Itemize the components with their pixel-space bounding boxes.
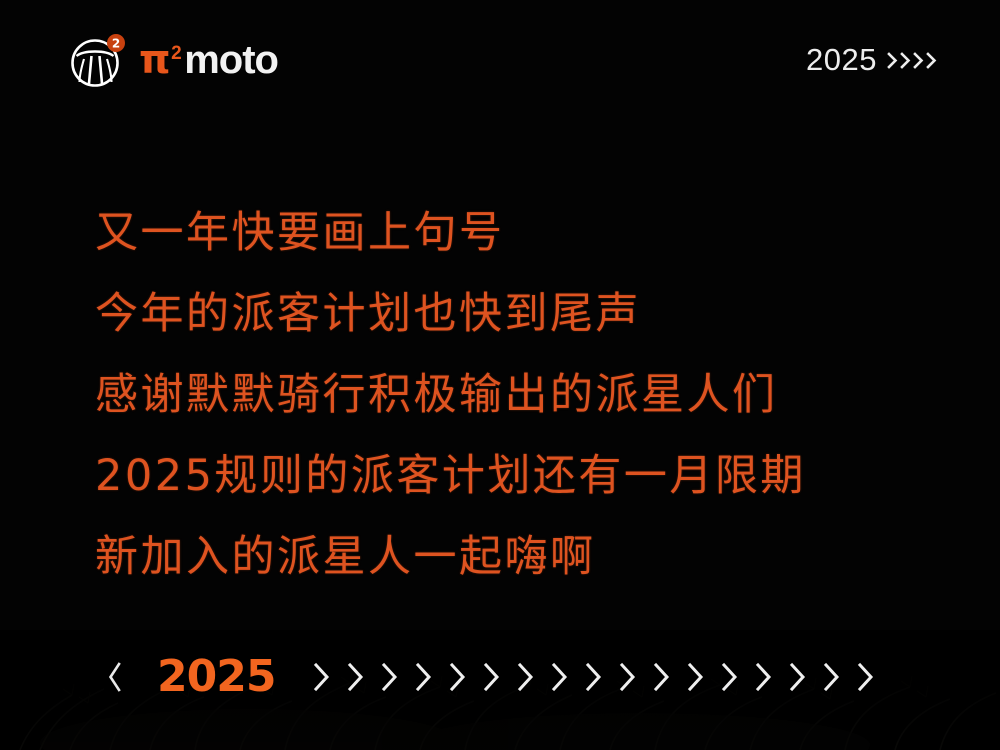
chevron-right-icon — [713, 660, 747, 694]
brand-pi-glyph: π — [139, 40, 170, 80]
chevron-right-icon — [899, 51, 912, 70]
chevron-right-icon — [679, 660, 713, 694]
chevron-right-icon — [925, 51, 938, 70]
chevron-right-icon — [407, 660, 441, 694]
copy-line-2: 今年的派客计划也快到尾声 — [95, 293, 925, 336]
pi-moto-circle-logo-icon: 2 — [70, 32, 126, 88]
footer-chevron-group — [305, 660, 883, 694]
chevron-right-icon — [441, 660, 475, 694]
chevron-right-icon — [781, 660, 815, 694]
chevron-right-icon — [305, 660, 339, 694]
header-chevron-group — [886, 51, 938, 70]
copy-line-1: 又一年快要画上句号 — [95, 212, 925, 255]
header-year-label: 2025 — [806, 42, 877, 78]
brand-wordmark: π2moto — [139, 40, 278, 80]
chevron-right-icon — [475, 660, 509, 694]
copy-line-3: 感谢默默骑行积极输出的派星人们 — [95, 374, 925, 417]
chevron-right-icon — [509, 660, 543, 694]
main-copy-block: 又一年快要画上句号 今年的派客计划也快到尾声 感谢默默骑行积极输出的派星人们 2… — [95, 212, 925, 579]
chevron-right-icon — [849, 660, 883, 694]
chevron-right-icon — [747, 660, 781, 694]
copy-line-5: 新加入的派星人一起嗨啊 — [95, 536, 925, 579]
chevron-right-icon — [577, 660, 611, 694]
footer-year-label: 2025 — [157, 655, 275, 699]
poster-canvas: 2 π2moto 2025 又一年快要画上句号 今年的派客计划也快到尾声 感谢默… — [0, 0, 1000, 750]
brand-superscript-2: 2 — [171, 44, 181, 63]
chevron-left-icon[interactable] — [105, 660, 125, 694]
header-bar: 2 π2moto 2025 — [0, 0, 1000, 120]
chevron-right-icon — [815, 660, 849, 694]
copy-line-4: 2025规则的派客计划还有一月限期 — [95, 455, 925, 498]
brand-lockup[interactable]: 2 π2moto — [70, 32, 278, 88]
chevron-right-icon — [611, 660, 645, 694]
chevron-right-icon — [912, 51, 925, 70]
brand-name-text: moto — [184, 40, 278, 80]
chevron-right-icon — [373, 660, 407, 694]
chevron-right-icon — [339, 660, 373, 694]
footer-year-band: 2025 — [105, 652, 935, 702]
chevron-right-icon — [886, 51, 899, 70]
header-year-tag: 2025 — [806, 42, 938, 78]
chevron-right-icon — [543, 660, 577, 694]
svg-text:2: 2 — [112, 37, 120, 51]
chevron-right-icon — [645, 660, 679, 694]
